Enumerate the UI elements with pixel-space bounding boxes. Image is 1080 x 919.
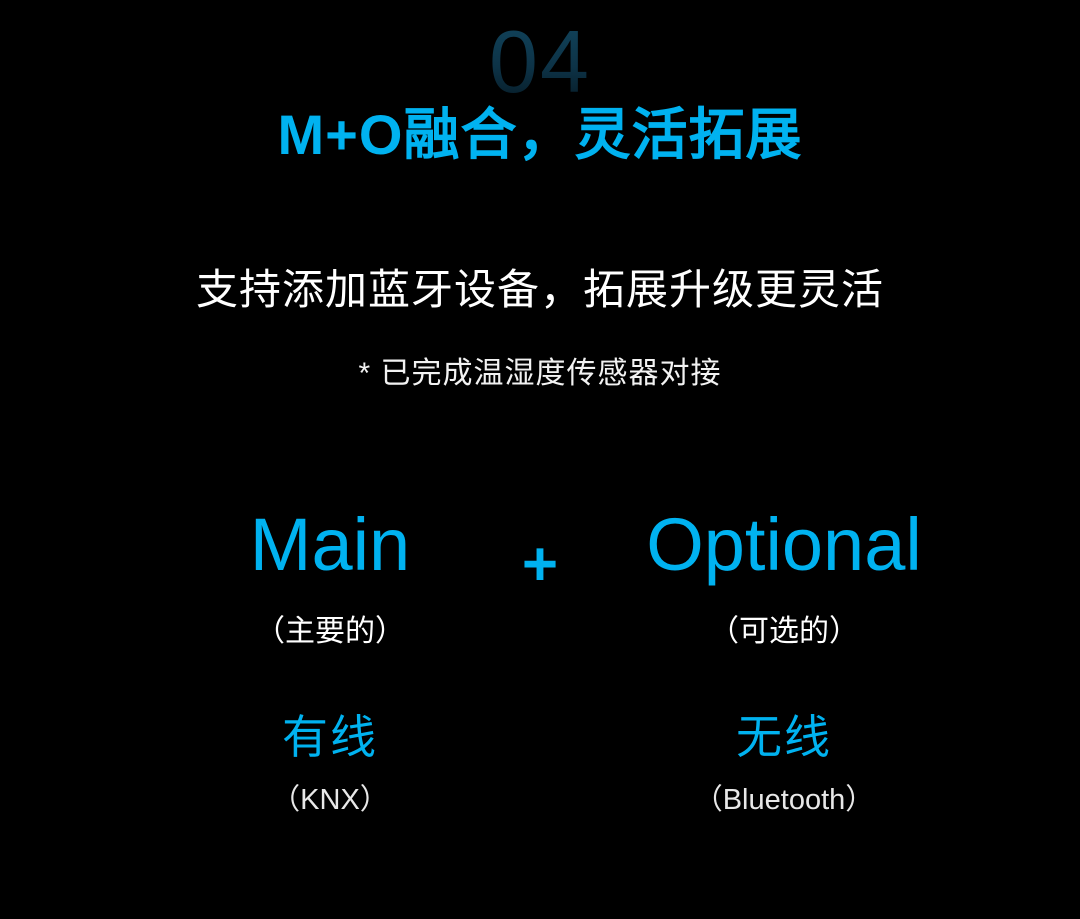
plus-icon: + <box>522 534 558 596</box>
column-title-zh-optional: （可选的） <box>624 614 944 650</box>
footnote-text: * 已完成温湿度传感器对接 <box>0 355 1080 393</box>
column-mode-zh-optional: 无线 <box>624 712 944 763</box>
slide-root: 04 M+O融合，灵活拓展 支持添加蓝牙设备，拓展升级更灵活 * 已完成温湿度传… <box>0 0 1080 919</box>
column-mode-en-main: （KNX） <box>170 783 490 818</box>
subtitle-text: 支持添加蓝牙设备，拓展升级更灵活 <box>0 265 1080 315</box>
comparison-column-main: Main （主要的） 有线 （KNX） <box>170 508 490 817</box>
column-title-zh-main: （主要的） <box>170 614 490 650</box>
column-title-main: Main <box>170 508 490 582</box>
section-number-watermark: 04 <box>0 18 1080 106</box>
comparison-column-optional: Optional （可选的） 无线 （Bluetooth） <box>624 508 944 817</box>
column-mode-zh-main: 有线 <box>170 712 490 763</box>
page-title: M+O融合，灵活拓展 <box>0 103 1080 167</box>
comparison-block: + Main （主要的） 有线 （KNX） Optional （可选的） 无线 … <box>0 508 1080 868</box>
column-mode-en-optional: （Bluetooth） <box>624 783 944 818</box>
column-title-optional: Optional <box>624 508 944 582</box>
